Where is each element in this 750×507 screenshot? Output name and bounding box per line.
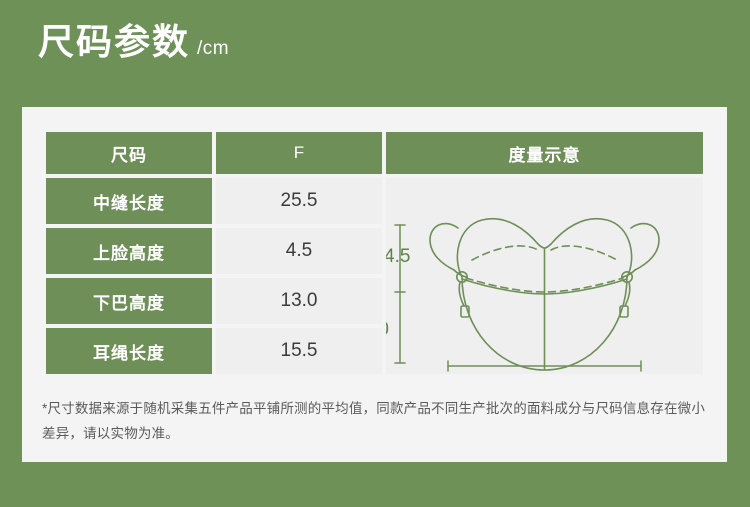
- page-title-block: 尺码参数 /cm: [38, 24, 229, 60]
- footnote-text: *尺寸数据来源于随机采集五件产品平铺所测的平均值，同款产品不同生产批次的面料成分…: [42, 397, 706, 447]
- size-table: 尺码 F 度量示意 中缝长度 25.5: [42, 128, 707, 378]
- table-row: 中缝长度 25.5: [46, 178, 703, 224]
- diagram-cell: 4.5 13.0 25.5: [386, 178, 703, 374]
- column-header-diagram: 度量示意: [386, 132, 703, 174]
- row-value-center-seam-length: 25.5: [216, 178, 382, 224]
- right-ear-loop-outer: [631, 224, 659, 270]
- row-value-chin-height: 13.0: [216, 278, 382, 324]
- diagram-wrapper: 4.5 13.0 25.5: [386, 178, 703, 374]
- row-label-chin-height: 下巴高度: [46, 278, 212, 324]
- left-ear-loop-outer: [430, 224, 458, 270]
- row-label-ear-loop-length: 耳绳长度: [46, 328, 212, 374]
- row-value-ear-loop-length: 15.5: [216, 328, 382, 374]
- dimension-label-lower-height: 13.0: [386, 319, 389, 340]
- column-header-size: 尺码: [46, 132, 212, 174]
- table-header-row: 尺码 F 度量示意: [46, 132, 703, 174]
- row-value-upper-face-height: 4.5: [216, 228, 382, 274]
- column-header-f: F: [216, 132, 382, 174]
- mask-measurement-diagram: 4.5 13.0 25.5: [386, 178, 703, 374]
- row-label-center-seam-length: 中缝长度: [46, 178, 212, 224]
- mask-dashed-seam-right: [551, 246, 617, 260]
- row-label-upper-face-height: 上脸高度: [46, 228, 212, 274]
- page-title-unit: /cm: [197, 38, 229, 60]
- mask-dashed-seam-left: [472, 246, 538, 260]
- page-title: 尺码参数: [38, 24, 190, 60]
- dimension-label-upper-height: 4.5: [386, 246, 410, 267]
- size-chart-panel: 尺码 F 度量示意 中缝长度 25.5: [22, 107, 727, 462]
